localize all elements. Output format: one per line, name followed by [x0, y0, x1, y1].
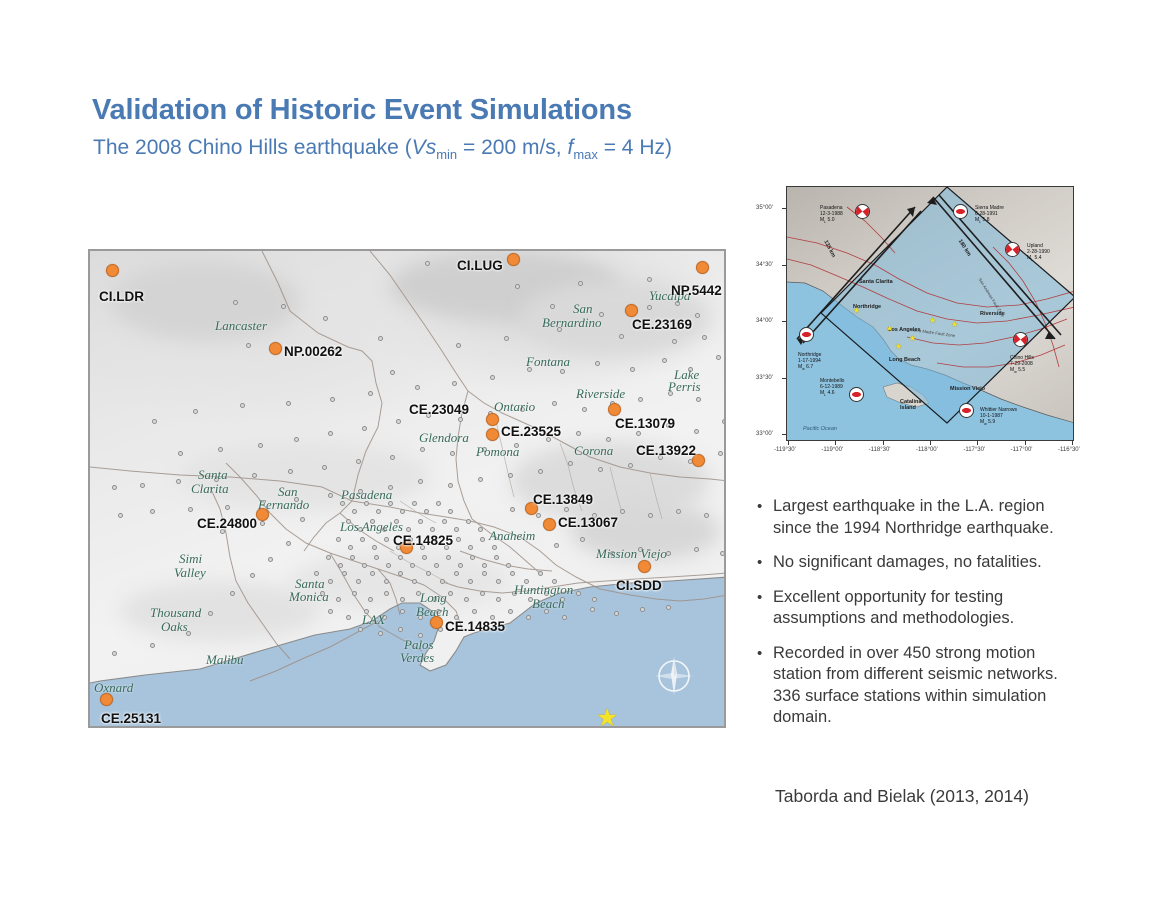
inset-event-magnitude: Mw 5.9	[980, 419, 1017, 427]
city-label: Mission Viejo	[596, 548, 667, 560]
station-label: CE.23525	[501, 424, 561, 439]
station-label: CE.23169	[632, 317, 692, 332]
city-label: Oaks	[161, 621, 188, 633]
city-label: Malibu	[206, 654, 244, 666]
inset-x-tick	[883, 441, 884, 445]
inset-y-tick-label: 33°00'	[756, 431, 773, 437]
station-marker-ci-lug[interactable]	[507, 253, 520, 266]
subtitle-vs-symbol: Vs	[412, 136, 437, 159]
city-label: Santa	[198, 469, 228, 481]
station-label: CE.13079	[615, 416, 675, 431]
inset-x-tick	[930, 441, 931, 445]
inset-city-label: Catalina Island	[900, 399, 928, 411]
focal-mechanism-beachball-icon	[799, 327, 814, 342]
station-label: CE.13922	[636, 443, 696, 458]
inset-y-tick-label: 34°00'	[756, 318, 773, 324]
city-label: Valley	[174, 567, 206, 579]
subtitle-f-subscript: max	[573, 147, 598, 162]
station-marker-ci-sdd[interactable]	[638, 560, 651, 573]
inset-x-tick-label: -119°30'	[774, 447, 796, 453]
focal-mechanism-beachball-icon	[1005, 242, 1020, 257]
inset-x-tick	[835, 441, 836, 445]
inset-y-tick	[782, 321, 786, 322]
city-label: Lancaster	[215, 320, 267, 332]
inset-x-tick	[788, 441, 789, 445]
inset-x-tick-label: -118°30'	[869, 447, 891, 453]
inset-event-label: Chino Hills7-29-2008Mw 5.5	[1010, 355, 1034, 376]
inset-event-magnitude: ML 4.6	[820, 390, 844, 398]
city-label: Glendora	[419, 432, 469, 444]
inset-city-label: Long Beach	[889, 357, 920, 363]
station-label: CE.14825	[393, 533, 453, 548]
focal-mechanism-beachball-icon	[1013, 332, 1028, 347]
station-marker-ce-24800[interactable]	[256, 508, 269, 521]
city-label: Huntington	[514, 584, 573, 596]
inset-x-tick-label: -117°30'	[963, 447, 985, 453]
citation-text: Taborda and Bielak (2013, 2014)	[775, 786, 1029, 807]
station-marker-np-00262[interactable]	[269, 342, 282, 355]
station-label: CE.25131	[101, 711, 161, 726]
inset-map-frame: Santa ClaritaNorthridgeLos AngelesRivers…	[786, 186, 1074, 441]
inset-city-label: Mission Viejo	[950, 386, 985, 392]
bullet-list: •Largest earthquake in the L.A. region s…	[757, 496, 1087, 742]
inset-y-tick-label: 35°00'	[756, 205, 773, 211]
city-label: Fontana	[526, 356, 570, 368]
inset-y-tick-label: 33°30'	[756, 375, 773, 381]
page-subtitle: The 2008 Chino Hills earthquake (Vsmin =…	[93, 136, 672, 162]
bullet-text: No significant damages, no fatalities.	[773, 552, 1042, 574]
main-station-map[interactable]: LancasterSanBernardinoYucaipaFontanaRive…	[88, 249, 726, 728]
bullet-text: Recorded in over 450 strong motion stati…	[773, 643, 1087, 729]
city-label: Bernardino	[542, 317, 601, 329]
bullet-item: •Excellent opportunity for testing assum…	[757, 587, 1087, 630]
station-label: CE.23049	[409, 402, 469, 417]
focal-mechanism-beachball-icon	[959, 403, 974, 418]
subtitle-vs-value: = 200 m/s,	[457, 136, 567, 159]
bullet-item: •Largest earthquake in the L.A. region s…	[757, 496, 1087, 539]
inset-y-tick-label: 34°30'	[756, 262, 773, 268]
city-label: Riverside	[576, 388, 625, 400]
bullet-dot-icon: •	[757, 587, 773, 630]
inset-x-tick	[1072, 441, 1073, 445]
bullet-dot-icon: •	[757, 552, 773, 574]
inset-event-label: Whittier Narrows10-1-1987Mw 5.9	[980, 407, 1017, 428]
city-label: Monica	[289, 591, 329, 603]
regional-inset-map[interactable]: Santa ClaritaNorthridgeLos AngelesRivers…	[786, 186, 1074, 441]
focal-mechanism-beachball-icon	[849, 387, 864, 402]
subtitle-f-value: = 4 Hz)	[598, 136, 672, 159]
compass-rose-icon	[652, 654, 696, 698]
inset-city-label: Santa Clarita	[859, 279, 893, 285]
inset-x-tick-label: -116°30'	[1058, 447, 1080, 453]
city-label: Anaheim	[489, 530, 535, 542]
inset-x-tick-label: -118°00'	[916, 447, 938, 453]
inset-event-label: Pasadena12-3-1988ML 5.0	[820, 205, 843, 226]
station-marker-ce-23525[interactable]	[486, 428, 499, 441]
city-label: Thousand	[150, 607, 201, 619]
inset-x-tick-label: -119°00'	[821, 447, 843, 453]
station-label: NP.00262	[284, 344, 342, 359]
bullet-item: •Recorded in over 450 strong motion stat…	[757, 643, 1087, 729]
station-label: CI.LDR	[99, 289, 144, 304]
epicenter-star-icon: ★	[596, 706, 618, 728]
city-label: San	[573, 303, 593, 315]
station-marker-ce-14835[interactable]	[430, 616, 443, 629]
inset-event-magnitude: ML 5.0	[820, 217, 843, 225]
inset-event-magnitude: ML 5.4	[1027, 255, 1050, 263]
city-label: Beach	[532, 598, 564, 610]
inset-y-tick	[782, 208, 786, 209]
page-title: Validation of Historic Event Simulations	[92, 94, 632, 127]
bullet-text: Excellent opportunity for testing assump…	[773, 587, 1087, 630]
station-marker-ce-23049[interactable]	[486, 413, 499, 426]
bullet-item: •No significant damages, no fatalities.	[757, 552, 1087, 574]
city-label: Corona	[574, 445, 613, 457]
station-label: CE.13849	[533, 492, 593, 507]
inset-y-tick	[782, 265, 786, 266]
station-label: CE.14835	[445, 619, 505, 634]
station-marker-ce-25131[interactable]	[100, 693, 113, 706]
city-label: Oxnard	[94, 682, 133, 694]
city-label: Long	[420, 592, 447, 604]
inset-event-label: Sierra Madre6-28-1991ML 5.8	[975, 205, 1004, 226]
inset-event-magnitude: ML 5.8	[975, 217, 1004, 225]
city-label: Ontario	[494, 401, 535, 413]
inset-event-magnitude: Mw 5.5	[1010, 367, 1034, 375]
city-label: LAX	[362, 614, 385, 626]
station-marker-np-5442[interactable]	[696, 261, 709, 274]
city-label: Los Angeles	[340, 521, 403, 533]
inset-y-tick	[782, 378, 786, 379]
city-label: Clarita	[191, 483, 229, 495]
bullet-dot-icon: •	[757, 643, 773, 729]
inset-x-tick-label: -117°00'	[1011, 447, 1033, 453]
inset-event-magnitude: Mw 6.7	[798, 364, 821, 372]
station-label: CE.13067	[558, 515, 618, 530]
focal-mechanism-beachball-icon	[855, 204, 870, 219]
city-label: Pomona	[476, 446, 519, 458]
station-label: NP.5442	[671, 283, 722, 298]
station-marker-ce-13067[interactable]	[543, 518, 556, 531]
inset-x-tick	[977, 441, 978, 445]
station-label: CI.LUG	[457, 258, 503, 273]
station-marker-ci-ldr[interactable]	[106, 264, 119, 277]
inset-city-label: Pacific Ocean	[803, 426, 837, 432]
station-label: CI.SDD	[616, 578, 662, 593]
subtitle-lead: The 2008 Chino Hills earthquake (	[93, 136, 412, 159]
inset-event-label: Northridge1-17-1994Mw 6.7	[798, 352, 821, 373]
inset-event-label: Montebello6-12-1989ML 4.6	[820, 378, 844, 399]
bullet-text: Largest earthquake in the L.A. region si…	[773, 496, 1087, 539]
subtitle-vs-subscript: min	[436, 147, 457, 162]
city-label: Pasadena	[341, 489, 392, 501]
station-label: CE.24800	[197, 516, 257, 531]
inset-x-tick	[1025, 441, 1026, 445]
city-label: Verdes	[400, 652, 434, 664]
station-marker-ce-13079[interactable]	[608, 403, 621, 416]
inset-event-label: Upland2-28-1990ML 5.4	[1027, 243, 1050, 264]
inset-y-tick	[782, 434, 786, 435]
city-label: Simi	[179, 553, 202, 565]
focal-mechanism-beachball-icon	[953, 204, 968, 219]
station-marker-ce-23169[interactable]	[625, 304, 638, 317]
city-label: Perris	[668, 381, 701, 393]
bullet-dot-icon: •	[757, 496, 773, 539]
